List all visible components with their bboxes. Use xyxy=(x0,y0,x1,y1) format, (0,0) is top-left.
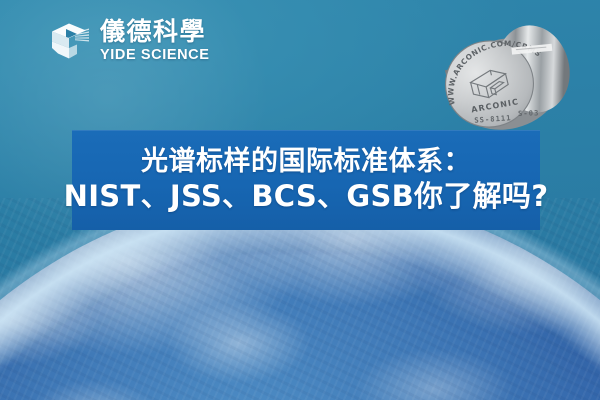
svg-text:S-03: S-03 xyxy=(518,108,540,118)
brand-logo[interactable]: 儀德科學 YIDE SCIENCE xyxy=(44,18,210,64)
brand-logo-text: 儀德科學 YIDE SCIENCE xyxy=(100,19,210,63)
brand-name-en: YIDE SCIENCE xyxy=(100,48,210,63)
title-line-1: 光谱标样的国际标准体系： xyxy=(141,147,471,177)
title-line-2: NIST、JSS、BCS、GSB你了解吗? xyxy=(64,181,549,213)
brand-name-cn: 儀德科學 xyxy=(100,19,210,44)
article-header-banner: 儀德科學 YIDE SCIENCE xyxy=(0,0,600,400)
certified-reference-material-disc: WWW.ARCONIC.COM/CRMS ARCONIC SS-8111 S-0… xyxy=(428,22,596,140)
yide-prism-logo-icon xyxy=(44,18,91,64)
title-banner: 光谱标样的国际标准体系： NIST、JSS、BCS、GSB你了解吗? xyxy=(72,130,540,230)
